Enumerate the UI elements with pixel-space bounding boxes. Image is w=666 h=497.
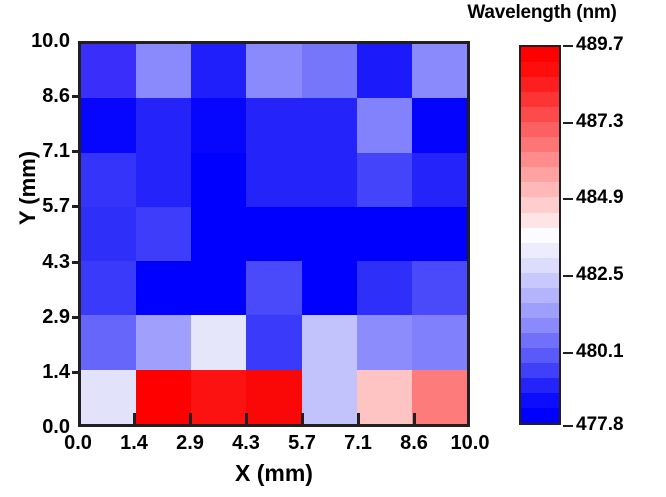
heatmap-cell: [136, 98, 191, 152]
colorbar-band: [521, 77, 559, 92]
heatmap-cell: [246, 261, 301, 315]
colorbar-band: [521, 152, 559, 167]
heatmap-cell: [81, 207, 136, 261]
heatmap-cell: [246, 315, 301, 369]
y-tick-label: 2.9: [8, 306, 70, 329]
heatmap-cell: [246, 153, 301, 207]
heatmap-cell: [302, 261, 357, 315]
heatmap-cell: [81, 261, 136, 315]
heatmap-cell: [302, 315, 357, 369]
heatmap-cell: [357, 44, 412, 98]
colorbar-tick-label: 477.8: [576, 414, 666, 436]
heatmap-cell: [136, 315, 191, 369]
heatmap-cell: [191, 207, 246, 261]
heatmap-cell: [357, 98, 412, 152]
heatmap-cell: [412, 44, 467, 98]
y-tick-mark: [72, 205, 80, 208]
heatmap-cell: [357, 153, 412, 207]
colorbar-band: [521, 378, 559, 393]
heatmap-cell: [81, 153, 136, 207]
colorbar-title: Wavelength (nm): [418, 2, 666, 24]
colorbar-band: [521, 333, 559, 348]
colorbar-gradient: [521, 47, 559, 423]
x-tick-mark: [301, 413, 304, 427]
y-tick-mark: [72, 316, 80, 319]
heatmap-cell: [246, 370, 301, 424]
colorbar-band: [521, 47, 559, 62]
y-tick-label: 8.6: [8, 85, 70, 108]
heatmap-cell: [302, 153, 357, 207]
colorbar-tick-mark: [563, 425, 573, 427]
heatmap-cell: [246, 98, 301, 152]
heatmap-cell: [191, 315, 246, 369]
heatmap-cell: [136, 44, 191, 98]
y-axis-label: Y (mm): [15, 108, 41, 268]
x-tick-mark: [133, 413, 136, 427]
colorbar-band: [521, 303, 559, 318]
y-tick-label: 1.4: [8, 361, 70, 384]
heatmap-cell: [302, 98, 357, 152]
colorbar-tick-label: 480.1: [576, 341, 666, 363]
colorbar-band: [521, 107, 559, 122]
colorbar-tick-mark: [563, 352, 573, 354]
colorbar-tick-label: 484.9: [576, 187, 666, 209]
heatmap-cell: [302, 207, 357, 261]
colorbar-band: [521, 197, 559, 212]
heatmap-cell: [412, 98, 467, 152]
colorbar-band: [521, 318, 559, 333]
colorbar-tick-mark: [563, 275, 573, 277]
x-tick-mark: [413, 413, 416, 427]
colorbar-band: [521, 258, 559, 273]
heatmap-cell: [302, 370, 357, 424]
heatmap-cell: [246, 207, 301, 261]
heatmap-cell: [412, 261, 467, 315]
heatmap-cell: [412, 370, 467, 424]
heatmap-cell: [81, 98, 136, 152]
colorbar-band: [521, 408, 559, 423]
heatmap-cell: [357, 207, 412, 261]
heatmap-cell: [191, 153, 246, 207]
heatmap-cell: [136, 207, 191, 261]
y-tick-mark: [72, 95, 80, 98]
colorbar-band: [521, 182, 559, 197]
y-tick-label: 10.0: [8, 30, 70, 53]
x-tick-label: 10.0: [435, 432, 505, 455]
colorbar-tick-mark: [563, 198, 573, 200]
heatmap-cell-grid: [81, 44, 467, 424]
heatmap-cell: [246, 44, 301, 98]
colorbar-band: [521, 348, 559, 363]
heatmap-cell: [81, 315, 136, 369]
heatmap-cell: [136, 261, 191, 315]
heatmap-cell: [357, 370, 412, 424]
colorbar-band: [521, 393, 559, 408]
heatmap-cell: [191, 98, 246, 152]
heatmap-cell: [412, 207, 467, 261]
colorbar-band: [521, 137, 559, 152]
heatmap-cell: [191, 261, 246, 315]
x-tick-mark: [245, 413, 248, 427]
colorbar-tick-label: 482.5: [576, 264, 666, 286]
heatmap-cell: [357, 261, 412, 315]
colorbar-tick-label: 487.3: [576, 111, 666, 133]
x-tick-mark: [189, 413, 192, 427]
colorbar-band: [521, 122, 559, 137]
colorbar: [519, 45, 561, 425]
heatmap-cell: [357, 315, 412, 369]
colorbar-tick-label: 489.7: [576, 34, 666, 56]
y-tick-mark: [72, 150, 80, 153]
heatmap-cell: [136, 153, 191, 207]
colorbar-band: [521, 62, 559, 77]
heatmap-cell: [81, 370, 136, 424]
colorbar-band: [521, 363, 559, 378]
y-tick-mark: [72, 371, 80, 374]
heatmap-cell: [191, 44, 246, 98]
heatmap-plot-area: [78, 41, 470, 427]
heatmap-cell: [191, 370, 246, 424]
y-tick-mark: [72, 261, 80, 264]
heatmap-cell: [136, 370, 191, 424]
heatmap-cell: [412, 315, 467, 369]
colorbar-band: [521, 92, 559, 107]
heatmap-cell: [412, 153, 467, 207]
colorbar-tick-mark: [563, 122, 573, 124]
colorbar-band: [521, 243, 559, 258]
x-axis-label: X (mm): [78, 460, 470, 487]
x-tick-mark: [357, 413, 360, 427]
heatmap-figure: Wavelength (nm) 0.01.42.94.35.77.18.610.…: [0, 0, 666, 497]
heatmap-cell: [81, 44, 136, 98]
colorbar-tick-mark: [563, 45, 573, 47]
colorbar-band: [521, 228, 559, 243]
colorbar-band: [521, 273, 559, 288]
heatmap-cell: [302, 44, 357, 98]
colorbar-band: [521, 167, 559, 182]
colorbar-band: [521, 288, 559, 303]
colorbar-band: [521, 213, 559, 228]
